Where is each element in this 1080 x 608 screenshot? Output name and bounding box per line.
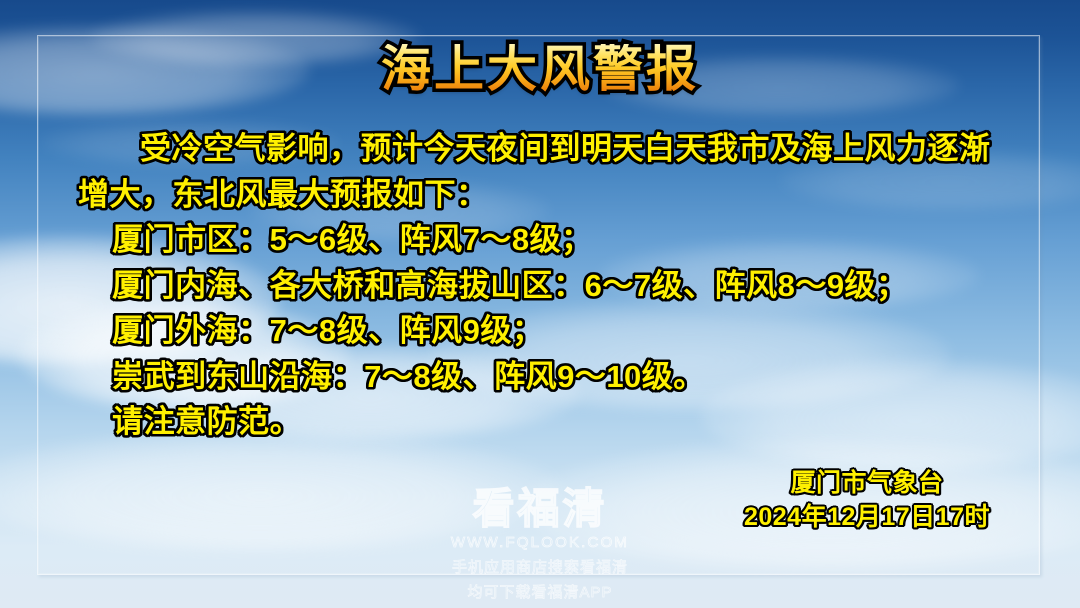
watermark-promo-line-2: 均可下载看福清APP (0, 582, 1080, 603)
forecast-line-outer-sea: 厦门外海：7～8级、阵风9级； (78, 308, 1008, 354)
warning-lead-paragraph: 受冷空气影响，预计今天夜间到明天白天我市及海上风力逐渐增大，东北风最大预报如下： (78, 126, 1008, 217)
issuer-signature-block: 厦门市气象台 2024年12月17日17时 (744, 466, 990, 534)
issuer-name: 厦门市气象台 (744, 466, 990, 500)
poster-title-fill: 海上大风警报 (0, 44, 1080, 94)
watermark-promo-line-1: 手机应用商店搜索看福清 (0, 557, 1080, 578)
warning-closing-note: 请注意防范。 (78, 399, 1008, 445)
watermark-url: WWW.FQLOOK.COM (0, 533, 1080, 553)
issue-timestamp: 2024年12月17日17时 (744, 500, 990, 534)
warning-body: 受冷空气影响，预计今天夜间到明天白天我市及海上风力逐渐增大，东北风最大预报如下：… (78, 126, 1008, 445)
poster-title: 海上大风警报 海上大风警报 (0, 44, 1080, 94)
poster-content: 海上大风警报 海上大风警报 受冷空气影响，预计今天夜间到明天白天我市及海上风力逐… (0, 0, 1080, 608)
forecast-line-inner-sea-bridges-mountains: 厦门内海、各大桥和高海拔山区：6～7级、阵风8～9级； (78, 263, 1008, 309)
forecast-line-xiamen-urban: 厦门市区：5～6级、阵风7～8级； (78, 217, 1008, 263)
forecast-line-chongwu-dongshan-coast: 崇武到东山沿海：7～8级、阵风9～10级。 (78, 354, 1008, 400)
weather-warning-poster: 海上大风警报 海上大风警报 受冷空气影响，预计今天夜间到明天白天我市及海上风力逐… (0, 0, 1080, 608)
